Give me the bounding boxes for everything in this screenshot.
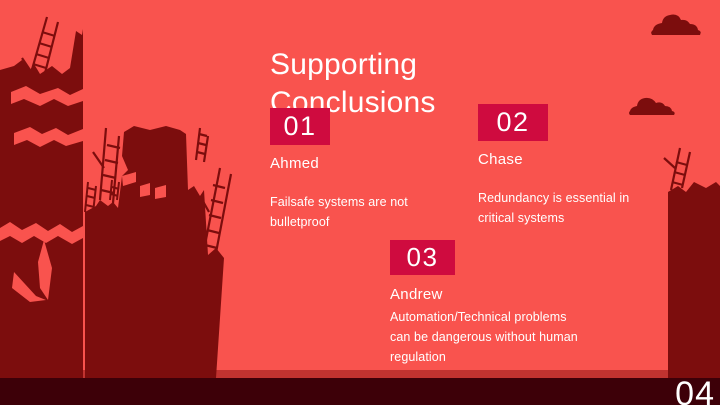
conclusion-item-01: 01 Ahmed Failsafe systems are not bullet… [270, 108, 460, 232]
conclusion-number-badge-02: 02 [478, 104, 548, 141]
footer-bar [0, 378, 720, 405]
conclusion-person-03: Andrew [390, 285, 590, 305]
conclusion-text-03: Automation/Technical problems can be dan… [390, 307, 590, 367]
conclusion-item-02: 02 Chase Redundancy is essential in crit… [478, 104, 658, 228]
slide: Supporting Conclusions 01 Ahmed Failsafe… [0, 0, 720, 405]
conclusion-text-02: Redundancy is essential in critical syst… [478, 188, 658, 228]
content-layer: Supporting Conclusions 01 Ahmed Failsafe… [0, 0, 720, 405]
conclusion-person-01: Ahmed [270, 154, 460, 174]
conclusion-text-01: Failsafe systems are not bulletproof [270, 192, 460, 232]
conclusion-number-badge-01: 01 [270, 108, 330, 145]
conclusion-number-badge-03: 03 [390, 240, 455, 275]
conclusion-item-03: 03 Andrew Automation/Technical problems … [390, 240, 590, 367]
conclusion-person-02: Chase [478, 150, 658, 170]
page-number: 04 [675, 376, 715, 405]
